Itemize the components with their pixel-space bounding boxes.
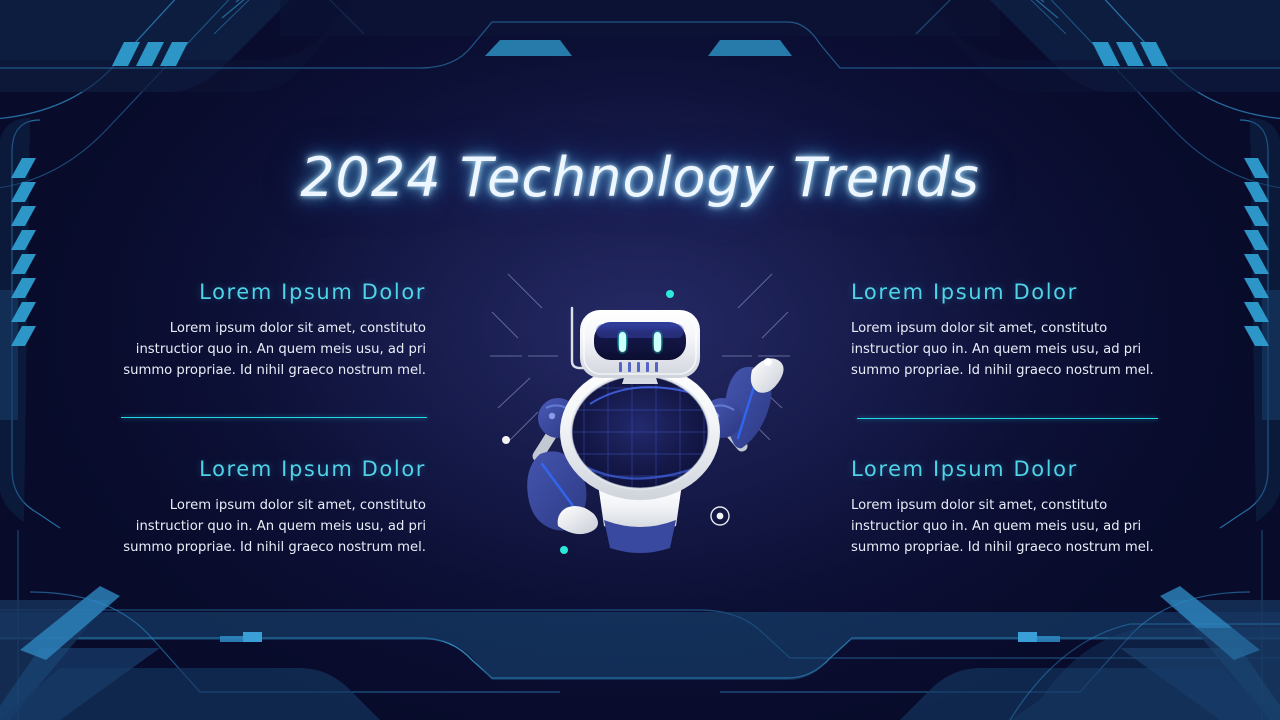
block-heading-top-left: Lorem Ipsum Dolor — [120, 280, 426, 304]
dot-white-left — [502, 436, 510, 444]
content-block-bottom-left: Lorem Ipsum Dolor Lorem ipsum dolor sit … — [120, 457, 426, 558]
block-heading-bottom-right: Lorem Ipsum Dolor — [851, 457, 1157, 481]
block-body-top-left: Lorem ipsum dolor sit amet, constituto i… — [120, 318, 426, 381]
page-title: 2024 Technology Trends — [300, 146, 980, 209]
slide-canvas: 2024 Technology Trends Lorem Ipsum Dolor… — [0, 0, 1280, 720]
block-body-top-right: Lorem ipsum dolor sit amet, constituto i… — [851, 318, 1157, 381]
block-body-bottom-left: Lorem ipsum dolor sit amet, constituto i… — [120, 495, 426, 558]
robot-mascot-illustration — [480, 258, 800, 578]
block-heading-bottom-left: Lorem Ipsum Dolor — [120, 457, 426, 481]
robot-head — [580, 310, 700, 378]
block-heading-top-right: Lorem Ipsum Dolor — [851, 280, 1157, 304]
hash-marks-top-left — [112, 42, 188, 66]
target-reticle-marker — [711, 507, 729, 525]
dot-teal-bottom — [560, 546, 568, 554]
content-block-top-left: Lorem Ipsum Dolor Lorem ipsum dolor sit … — [120, 280, 426, 381]
dot-white-right — [764, 358, 772, 366]
divider-left — [121, 417, 427, 418]
content-block-top-right: Lorem Ipsum Dolor Lorem ipsum dolor sit … — [851, 280, 1157, 381]
block-body-bottom-right: Lorem ipsum dolor sit amet, constituto i… — [851, 495, 1157, 558]
dot-teal-top — [666, 290, 674, 298]
divider-right — [857, 418, 1158, 419]
robot-torso-screen — [560, 364, 720, 500]
title-container: 2024 Technology Trends — [0, 146, 1280, 209]
hash-marks-top-right — [1092, 42, 1168, 66]
content-block-bottom-right: Lorem Ipsum Dolor Lorem ipsum dolor sit … — [851, 457, 1157, 558]
